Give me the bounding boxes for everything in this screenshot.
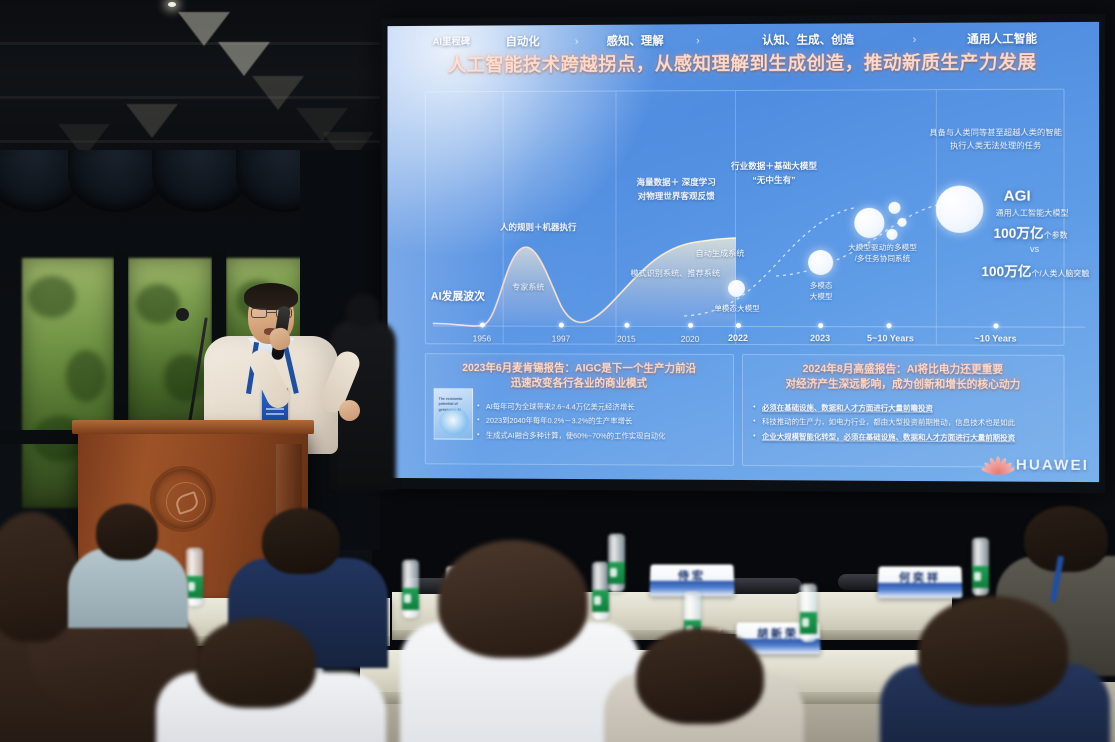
water-bottle (592, 562, 609, 620)
bubble-multiagent-c (886, 229, 897, 240)
wave-note-bigdata: 海量数据＋ 深度学习 (597, 176, 756, 189)
bubble-multiagent-main (854, 208, 884, 238)
agi-synapse-count: 100万亿个/人类人脑突触 (981, 260, 1089, 280)
audience-head (1024, 506, 1108, 572)
ceiling-panel-icon (126, 104, 178, 138)
speaker-hair (244, 283, 298, 310)
report-cover-thumbnail: The economic potential of generative AI (434, 388, 473, 440)
ceiling-panel-icon (252, 76, 304, 110)
bubble-label-multiagent-1: 大模型驱动的多模型 (824, 242, 941, 253)
list-item: 必须在基础设施、数据和人才方面进行大量前瞻投资 (753, 401, 1055, 417)
timeline-dot (688, 323, 693, 328)
report-card-goldman: 2024年8月高盛报告：AI将比电力还更重要 对经济产生深远影响，成为创新和增长… (742, 354, 1065, 468)
report-left-heading-line2: 迅速改变各行各业的商业模式 (432, 376, 727, 392)
timeline-label-5-10-years: 5~10 Years (867, 333, 914, 343)
report-left-heading-line1: 2023年6月麦肯锡报告：AIGC是下一个生产力前沿 (432, 361, 727, 377)
agi-synapse-unit: 个/人类人脑突触 (1032, 269, 1090, 278)
timeline-label-10-years: ~10 Years (974, 333, 1016, 343)
water-bottle (402, 560, 419, 618)
presentation-slide: 人工智能技术跨越拐点，从感知理解到生成创造，推动新质生产力发展 AI里程碑 自动… (388, 22, 1100, 482)
report-left-heading: 2023年6月麦肯锡报告：AIGC是下一个生产力前沿 迅速改变各行各业的商业模式 (432, 361, 727, 393)
wave-note-pattern-recognition: 模式识别系统、推荐系统 (581, 268, 770, 280)
huawei-petal-logo-icon (984, 454, 1010, 474)
audience-head (262, 508, 340, 574)
timeline-label-1997: 1997 (552, 334, 570, 344)
report-right-heading-line1: 2024年8月高盛报告：AI将比电力还更重要 (749, 362, 1057, 378)
list-item: 科技推动的生产力，如电力行业，都由大型投资前期推动，信息技术也是如此 (753, 415, 1055, 431)
bubble-multiagent-a (888, 202, 900, 214)
timeline-label-1956: 1956 (473, 333, 491, 343)
wave-note-human-rules: 人的规则＋机器执行 (464, 221, 612, 234)
timeline-dot (736, 323, 741, 328)
ceiling-panel-icon (178, 12, 230, 46)
speaker-right-hand (339, 400, 360, 421)
name-card-label: 侍宏 (678, 567, 706, 583)
list-item: AI每年可为全球带来2.6~4.4万亿美元经济增长 (477, 400, 725, 415)
timeline-dot (818, 323, 823, 328)
report-cover-graphic (440, 408, 470, 436)
timeline-label-2020: 2020 (681, 334, 700, 344)
list-item: 生成式AI融合多种计算，使60%~70%的工作实现自动化 (477, 429, 725, 445)
report-right-heading: 2024年8月高盛报告：AI将比电力还更重要 对经济产生深远影响，成为创新和增长… (749, 362, 1057, 394)
agi-synapse-value: 100万亿 (981, 264, 1031, 279)
water-bottle (972, 538, 989, 596)
bubble-label-multimodal-2: 大模型 (784, 291, 858, 302)
report-card-mckinsey: 2023年6月麦肯锡报告：AIGC是下一个生产力前沿 迅速改变各行各业的商业模式… (425, 353, 734, 466)
bubble-label-unimodal: 单模态大模型 (696, 303, 778, 314)
timeline-label-2022: 2022 (728, 333, 748, 343)
bubble-agi (936, 186, 984, 233)
water-bottle (186, 548, 203, 606)
conference-photo: 人工智能技术跨越拐点，从感知理解到生成创造，推动新质生产力发展 AI里程碑 自动… (0, 0, 1115, 742)
ceiling-panel-icon (218, 42, 270, 76)
audience-head (96, 504, 158, 560)
name-card-label: 胡新荣 (757, 625, 799, 641)
bubble-unimodal (728, 280, 745, 297)
audience-head (196, 618, 316, 708)
bubble-label-multiagent-2: /多任务协同系统 (824, 253, 941, 264)
name-card: 何奕祥 (877, 566, 962, 598)
timeline-dot (559, 323, 564, 328)
timeline-label-2015: 2015 (617, 334, 636, 344)
timeline-dot (624, 323, 629, 328)
water-bottle (608, 534, 625, 592)
name-card-label: 何奕祥 (899, 569, 941, 585)
list-item: 2023到2040年每年0.2%－3.2%的生产率增长 (477, 414, 725, 429)
wave-note-physical-feedback: 对物理世界客观反馈 (597, 190, 756, 203)
bubble-label-multimodal-1: 多模态 (784, 280, 858, 291)
timeline-label-2023: 2023 (810, 333, 830, 343)
audience-head (918, 596, 1068, 706)
agi-title: AGI (1004, 188, 1031, 205)
projection-screen: 人工智能技术跨越拐点，从感知理解到生成创造，推动新质生产力发展 AI里程碑 自动… (382, 14, 1106, 494)
wave-axis-title: AI发展波次 (431, 288, 485, 304)
report-left-bullets: AI每年可为全球带来2.6~4.4万亿美元经济增长 2023到2040年每年0.… (477, 400, 725, 444)
report-right-bullets: 必须在基础设施、数据和人才方面进行大量前瞻投资 科技推动的生产力，如电力行业，都… (753, 401, 1055, 446)
timeline-dot (994, 323, 999, 328)
wave-note-autogeneration: 自动生成系统 (660, 248, 780, 260)
gooseneck-microphone-head-icon (176, 308, 189, 321)
agi-parameter-value: 100万亿 (994, 226, 1044, 241)
list-item: 企业大规模智能化转型，必须在基础设施、数据和人才方面进行大量前期投资 (753, 430, 1055, 446)
huawei-wordmark: HUAWEI (1016, 456, 1089, 474)
timeline-dot (480, 323, 485, 328)
bubble-multiagent-b (898, 218, 907, 227)
agi-parameter-unit: 个参数 (1044, 231, 1068, 240)
huawei-logo: HUAWEI (984, 454, 1089, 475)
water-bottle (800, 584, 817, 642)
agi-subtitle: 通用人工智能大模型 (996, 208, 1069, 219)
ceiling-spotlight-icon (168, 2, 176, 7)
report-right-heading-line2: 对经济产生深远影响，成为创新和增长的核心动力 (749, 377, 1057, 393)
audience-head (438, 540, 588, 658)
audience-member (68, 548, 188, 628)
audience-head (636, 628, 764, 724)
agi-parameter-count: 100万亿个参数 (994, 222, 1068, 242)
podium-emblem-icon (150, 466, 216, 532)
timeline-dot (886, 323, 891, 328)
wave-note-expert-system: 专家系统 (484, 282, 573, 294)
agi-vs-label: vs (1030, 244, 1039, 254)
